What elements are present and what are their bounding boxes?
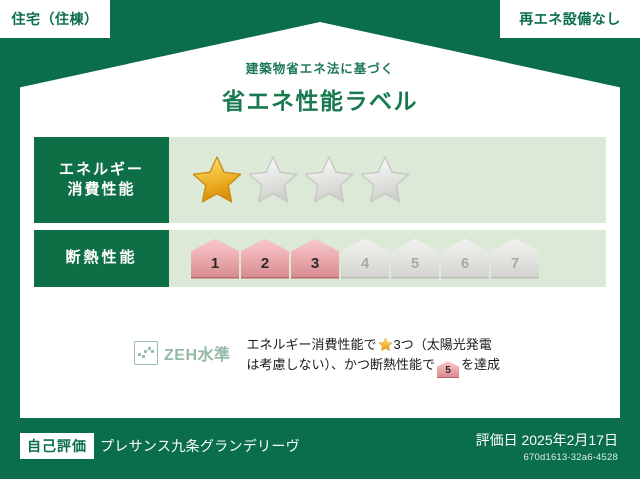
star-icon-filled [191,154,243,206]
insulation-level-number: 4 [361,255,369,272]
footer-right: 評価日 2025年2月17日 670d1613-32a6-4528 [476,430,618,463]
insulation-scale-wrap: 1234567 [169,230,606,287]
star-icon [378,337,393,352]
star-icon-empty [303,154,355,206]
insulation-level-5: 5 [391,239,439,279]
zeh-text-part1: エネルギー消費性能で [247,337,377,352]
insulation-level-6: 6 [441,239,489,279]
zeh-text-part3: は考慮しない）、かつ断熱性能で [247,357,436,372]
footer-bar: 自己評価 プレサンス九条グランデリーヴ 評価日 2025年2月17日 670d1… [0,421,640,479]
document-id: 670d1613-32a6-4528 [476,452,618,463]
building-name: プレサンス九条グランデリーヴ [100,436,300,456]
insulation-level-2: 2 [241,239,289,279]
zeh-description: エネルギー消費性能で3つ（太陽光発電は考慮しない）、かつ断熱性能で5を達成 [247,335,501,378]
zeh-text-part4: を達成 [461,357,500,372]
zeh-text-part2: 3つ（太陽光発電 [394,337,492,352]
row-energy-label-line1: エネルギー [59,160,144,180]
rating-rows: エネルギー 消費性能 断熱性能 1234567 [34,137,606,287]
star-rating [169,137,606,223]
zeh-note: ZEH水準 エネルギー消費性能で3つ（太陽光発電は考慮しない）、かつ断熱性能で5… [34,335,606,378]
insulation-level-4: 4 [341,239,389,279]
insulation-level-number: 3 [311,255,319,272]
insulation-level-number: 6 [461,255,469,272]
inline-house-number: 5 [445,365,451,376]
footer-left: 自己評価 プレサンス九条グランデリーヴ [20,433,300,459]
row-insulation-performance: 断熱性能 1234567 [34,230,606,287]
zeh-dots-icon [134,341,158,365]
row-energy-label: エネルギー 消費性能 [34,137,169,223]
insulation-level-number: 5 [411,255,419,272]
inline-house-badge: 5 [437,361,459,378]
row-energy-label-line2: 消費性能 [67,180,135,200]
title-subtitle: 建築物省エネ法に基づく [0,58,640,77]
insulation-level-number: 7 [511,255,519,272]
insulation-level-1: 1 [191,239,239,279]
row-insulation-label-text: 断熱性能 [65,248,137,268]
evaluation-date: 評価日 2025年2月17日 [476,430,618,450]
star-icon-empty [359,154,411,206]
row-insulation-label: 断熱性能 [34,230,169,287]
title-block: 建築物省エネ法に基づく 省エネ性能ラベル [0,58,640,116]
zeh-mark: ZEH水準 [134,341,231,365]
self-evaluation-badge: 自己評価 [20,433,94,459]
insulation-level-number: 1 [211,255,219,272]
page-title: 省エネ性能ラベル [0,82,640,116]
insulation-level-7: 7 [491,239,539,279]
row-energy-performance: エネルギー 消費性能 [34,137,606,223]
tag-renewable-energy: 再エネ設備なし [500,0,640,38]
tag-building-type: 住宅（住棟） [0,0,110,38]
star-icon-empty [247,154,299,206]
insulation-level-number: 2 [261,255,269,272]
zeh-label: ZEH水準 [164,341,231,365]
insulation-scale: 1234567 [191,239,541,279]
energy-label-card: 住宅（住棟） 再エネ設備なし 建築物省エネ法に基づく 省エネ性能ラベル エネルギ… [0,0,640,479]
insulation-level-3: 3 [291,239,339,279]
